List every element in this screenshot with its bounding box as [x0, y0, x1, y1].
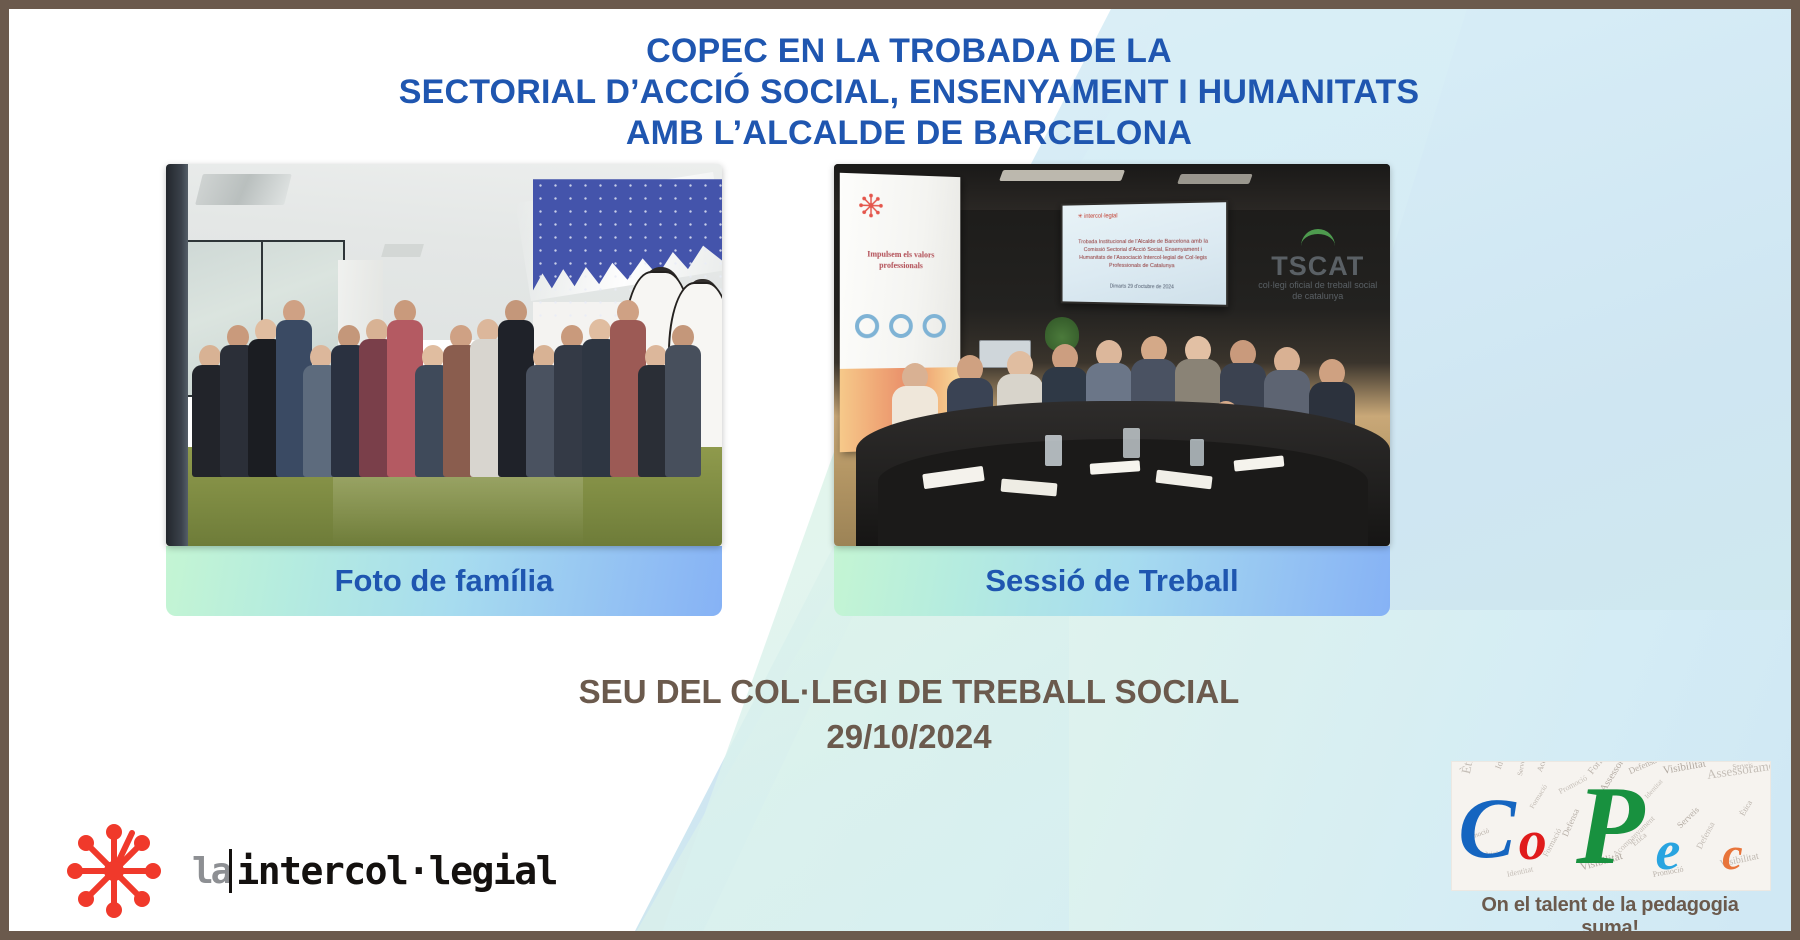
- table-item: [1123, 428, 1140, 459]
- table-item: [1156, 470, 1213, 490]
- table-item: [1045, 435, 1062, 466]
- copec-letter: c: [1722, 831, 1742, 877]
- footer-text: SEU DEL COL·LEGI DE TREBALL SOCIAL 29/10…: [9, 669, 1800, 759]
- footer-venue: SEU DEL COL·LEGI DE TREBALL SOCIAL: [9, 669, 1800, 714]
- table-props: [834, 164, 1390, 546]
- copec-tagline: On el talent de la pedagogia suma!: [1451, 894, 1769, 940]
- photo-card-foto-familia: Foto de família: [166, 164, 722, 616]
- copec-letter: o: [1519, 813, 1547, 869]
- table-item: [1089, 460, 1140, 475]
- copec-letter: e: [1656, 823, 1681, 879]
- copec-letter: P: [1576, 770, 1644, 882]
- logo-intercollegial: la intercol·legial: [64, 821, 474, 921]
- photo-people-group: [188, 263, 700, 477]
- table-item: [1190, 439, 1204, 466]
- table-item: [922, 465, 985, 489]
- copec-word-cloud: ÈticaIdentitatServeisAcompanyamentPromoc…: [1451, 761, 1771, 891]
- caption-sessio-treball: Sessió de Treball: [834, 546, 1390, 616]
- intercollegial-star-icon: [64, 821, 164, 921]
- slide-title: COPEC EN LA TROBADA DE LA SECTORIAL D’AC…: [9, 31, 1800, 154]
- photo-foto-familia: [166, 164, 722, 546]
- intercollegial-wordmark: la intercol·legial: [192, 849, 557, 893]
- photo-card-sessio-treball: Impulsem els valors professionals ✳ inte…: [834, 164, 1390, 616]
- intercollegial-prefix: la: [192, 851, 229, 892]
- copec-letter: C: [1458, 785, 1515, 871]
- photo-ceiling-vent: [196, 174, 293, 205]
- photo-ceiling-vent-2: [381, 244, 424, 257]
- title-line-1: COPEC EN LA TROBADA DE LA: [9, 31, 1800, 72]
- slide-root: COPEC EN LA TROBADA DE LA SECTORIAL D’AC…: [0, 0, 1800, 940]
- photo-person-body: [665, 345, 701, 477]
- photo-left-dark-panel: [166, 164, 188, 546]
- table-item: [1000, 479, 1057, 497]
- caption-foto-familia: Foto de família: [166, 546, 722, 616]
- table-item: [1234, 456, 1285, 473]
- footer-date: 29/10/2024: [9, 714, 1800, 759]
- title-line-2: SECTORIAL D’ACCIÓ SOCIAL, ENSENYAMENT I …: [9, 72, 1800, 113]
- photo-person: [667, 325, 700, 477]
- copec-letters: CoPec: [1452, 762, 1770, 890]
- logo-copec: ÈticaIdentitatServeisAcompanyamentPromoc…: [1451, 761, 1769, 931]
- title-line-3: AMB L’ALCALDE DE BARCELONA: [9, 113, 1800, 154]
- photo-sessio-treball: Impulsem els valors professionals ✳ inte…: [834, 164, 1390, 546]
- intercollegial-name: intercol·legial: [229, 849, 557, 893]
